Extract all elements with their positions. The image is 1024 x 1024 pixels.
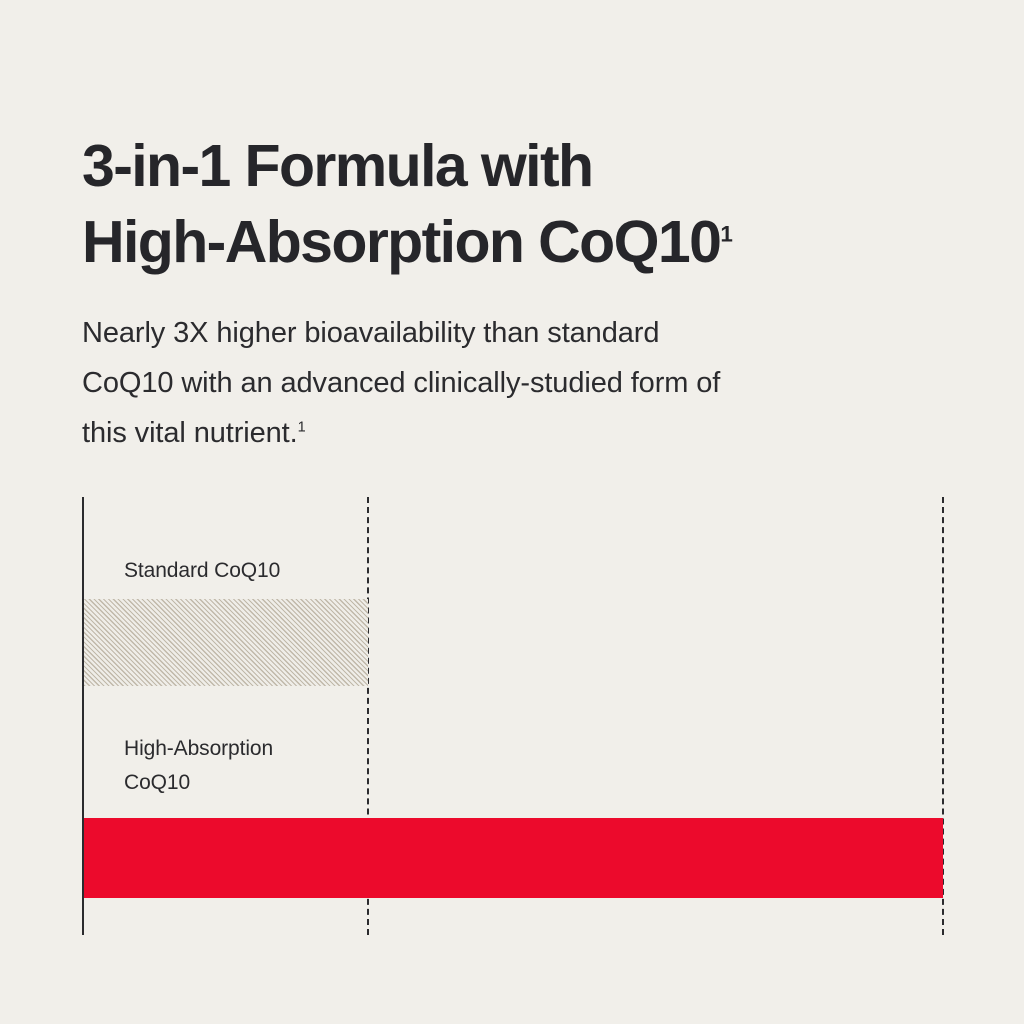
bar-label-standard-coq10: Standard CoQ10 — [124, 554, 280, 588]
bar-label-high-absorption-coq10: High-Absorption CoQ10 — [124, 732, 273, 800]
bar-standard-coq10 — [84, 599, 368, 686]
promo-panel: 3-in-1 Formula with High-Absorption CoQ1… — [0, 0, 1024, 1024]
bioavailability-bar-chart: Standard CoQ10 High-Absorption CoQ10 — [0, 0, 1024, 1024]
bar-high-absorption-coq10 — [84, 818, 943, 898]
